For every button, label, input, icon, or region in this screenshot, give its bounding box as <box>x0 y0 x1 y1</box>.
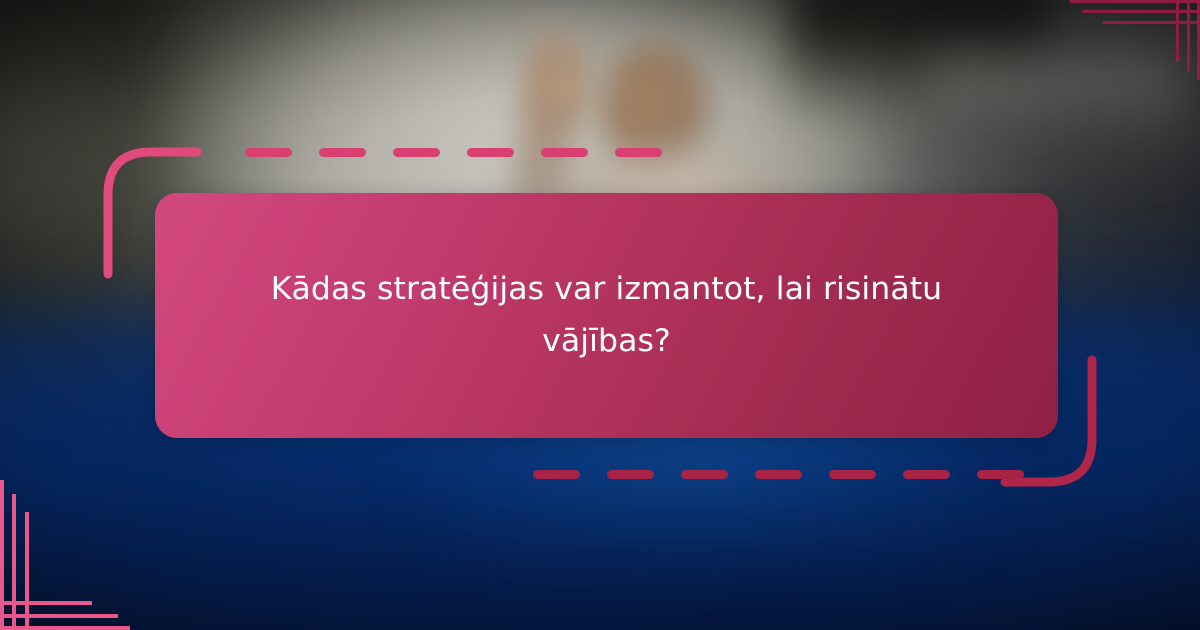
dashed-rule-top <box>245 148 662 157</box>
corner-grid-bottom-left-icon <box>0 480 130 630</box>
dash-segment <box>755 470 802 479</box>
dash-segment <box>829 470 876 479</box>
dashed-rule-bottom <box>533 470 1024 479</box>
dash-segment <box>319 148 366 157</box>
dash-segment <box>903 470 950 479</box>
dash-segment <box>467 148 514 157</box>
dash-segment <box>615 148 662 157</box>
dash-segment <box>681 470 728 479</box>
dash-segment <box>607 470 654 479</box>
corner-grid-top-right-icon <box>1070 0 1200 80</box>
dash-segment <box>533 470 580 479</box>
dash-segment <box>245 148 292 157</box>
question-card: Kādas stratēģijas var izmantot, lai risi… <box>155 193 1058 438</box>
slide-canvas: Kādas stratēģijas var izmantot, lai risi… <box>0 0 1200 630</box>
dash-segment <box>977 470 1024 479</box>
question-text: Kādas stratēģijas var izmantot, lai risi… <box>227 264 987 366</box>
dash-segment <box>541 148 588 157</box>
dash-segment <box>393 148 440 157</box>
